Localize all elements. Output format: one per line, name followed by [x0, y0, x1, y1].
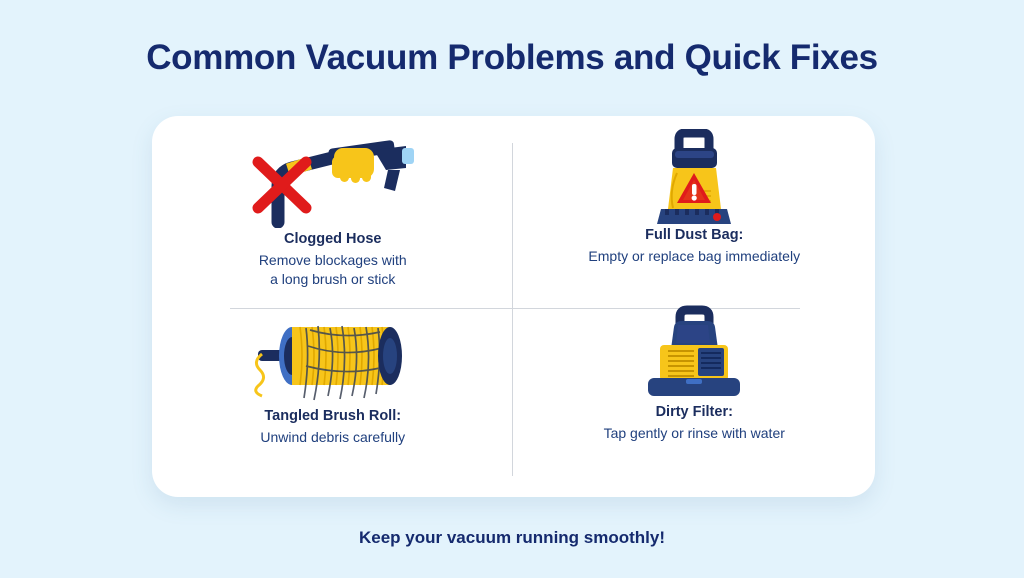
problems-card: Clogged Hose Remove blockages with a lon… — [152, 116, 875, 497]
problem-title: Full Dust Bag: — [588, 226, 800, 245]
problem-item-dirty-filter[interactable]: Dirty Filter: Tap gently or rinse with w… — [514, 307, 876, 498]
problem-body: Unwind debris carefully — [260, 428, 405, 446]
problem-item-full-dust-bag[interactable]: Full Dust Bag: Empty or replace bag imme… — [514, 116, 876, 307]
problem-caption: Clogged Hose Remove blockages with a lon… — [259, 230, 407, 288]
problem-title: Tangled Brush Roll: — [260, 407, 405, 426]
problem-body: Remove blockages with a long brush or st… — [259, 251, 407, 288]
problem-caption: Tangled Brush Roll: Unwind debris carefu… — [260, 407, 405, 447]
problem-item-tangled-brush-roll[interactable]: Tangled Brush Roll: Unwind debris carefu… — [152, 307, 514, 498]
problem-body: Empty or replace bag immediately — [588, 247, 800, 265]
page-title: Common Vacuum Problems and Quick Fixes — [0, 38, 1024, 78]
problem-body: Tap gently or rinse with water — [604, 424, 785, 442]
problem-caption: Full Dust Bag: Empty or replace bag imme… — [588, 226, 800, 266]
footer-text: Keep your vacuum running smoothly! — [0, 528, 1024, 548]
problem-title: Dirty Filter: — [604, 403, 785, 422]
problem-caption: Dirty Filter: Tap gently or rinse with w… — [604, 403, 785, 443]
problem-item-clogged-hose[interactable]: Clogged Hose Remove blockages with a lon… — [152, 116, 514, 307]
infographic-page: Common Vacuum Problems and Quick Fixes — [0, 0, 1024, 578]
dust-bag-warning-icon — [639, 130, 749, 226]
vacuum-hose-blocked-icon — [248, 134, 418, 230]
problem-title: Clogged Hose — [259, 230, 407, 249]
problems-grid: Clogged Hose Remove blockages with a lon… — [152, 116, 875, 497]
